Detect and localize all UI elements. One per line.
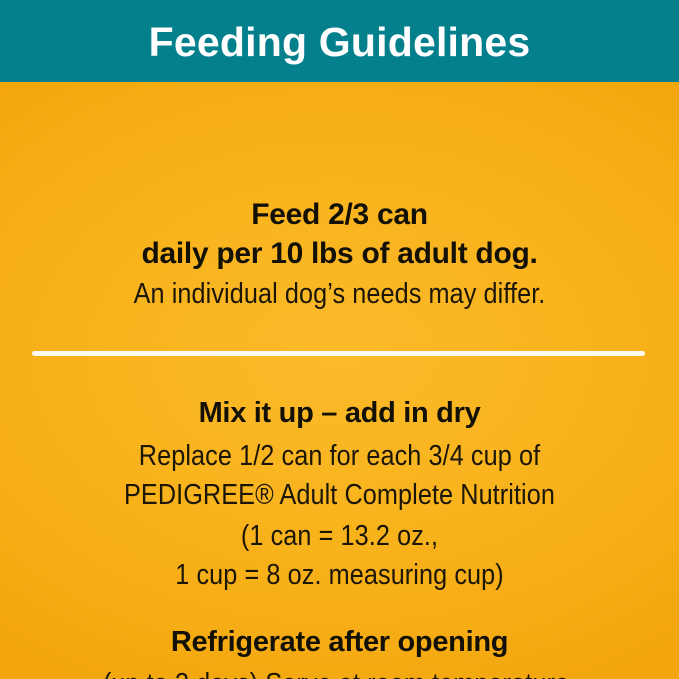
feeding-amount-line-2: daily per 10 lbs of adult dog. (0, 239, 679, 269)
page-title: Feeding Guidelines (0, 1, 679, 83)
mix-in-dry-heading: Mix it up – add in dry (0, 399, 679, 428)
feeding-amount-line-1: Feed 2/3 can (0, 200, 679, 230)
mix-in-dry-line-4: 1 cup = 8 oz. measuring cup) (44, 561, 635, 590)
storage-line-1: (up to 3 days) Serve at room temperature… (44, 670, 635, 679)
guidelines-body: Feed 2/3 can daily per 10 lbs of adult d… (0, 82, 679, 679)
storage-heading: Refrigerate after opening (0, 628, 679, 657)
section-divider (32, 351, 645, 356)
feeding-guidelines-panel: Feeding Guidelines Feed 2/3 can daily pe… (0, 0, 679, 679)
feeding-amount-note: An individual dog’s needs may differ. (44, 280, 635, 309)
mix-in-dry-line-2: PEDIGREE® Adult Complete Nutrition (44, 481, 635, 510)
mix-in-dry-line-1: Replace 1/2 can for each 3/4 cup of (44, 442, 635, 471)
header-band: Feeding Guidelines (0, 0, 679, 82)
mix-in-dry-line-3: (1 can = 13.2 oz., (44, 522, 635, 551)
